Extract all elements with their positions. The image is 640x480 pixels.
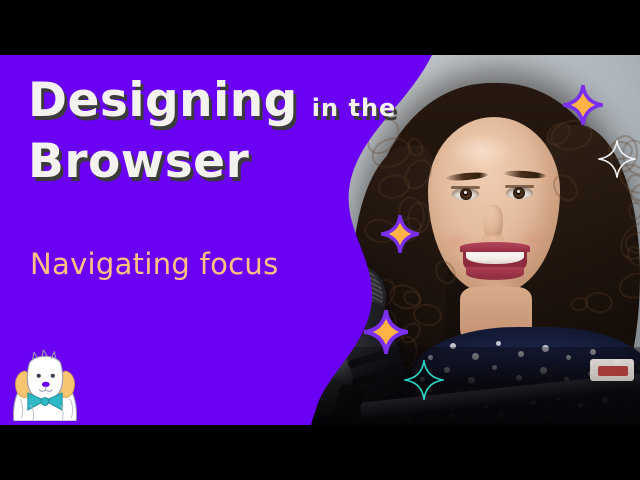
sparkle-teal-outline-bottom-icon bbox=[404, 360, 444, 400]
letterbox-bar-top bbox=[0, 0, 640, 55]
dog-head bbox=[27, 350, 62, 399]
polka-dot bbox=[496, 341, 501, 346]
forehead-highlight bbox=[450, 133, 512, 169]
slide-content: Designing in the Browser Navigating focu… bbox=[0, 55, 640, 425]
dog-mascot-logo bbox=[6, 343, 84, 421]
eye-glint-left bbox=[464, 191, 467, 194]
sparkle-purple-gold-mid-icon bbox=[381, 215, 419, 253]
title-small-words: in the bbox=[312, 96, 397, 120]
sparkle-white-outline-right-icon bbox=[598, 140, 636, 178]
sparkle-purple-gold-top-right-icon bbox=[563, 85, 603, 125]
upper-lip bbox=[460, 242, 530, 252]
title-block: Designing in the Browser bbox=[28, 77, 396, 185]
eyelid-right bbox=[505, 185, 534, 188]
foreground-label-accent bbox=[598, 366, 628, 376]
eye-glint-right bbox=[517, 190, 520, 193]
hair-curl bbox=[628, 202, 640, 221]
letterbox-bar-bottom bbox=[0, 425, 640, 480]
eyelid-left bbox=[451, 186, 480, 189]
subtitle: Navigating focus bbox=[30, 247, 278, 281]
title-main-word-2: Browser bbox=[28, 138, 396, 185]
sparkle-purple-gold-lower-icon bbox=[364, 310, 408, 354]
title-main-word-1: Designing bbox=[28, 77, 298, 124]
title-line-1: Designing in the bbox=[28, 77, 396, 124]
video-frame: Designing in the Browser Navigating focu… bbox=[0, 0, 640, 480]
